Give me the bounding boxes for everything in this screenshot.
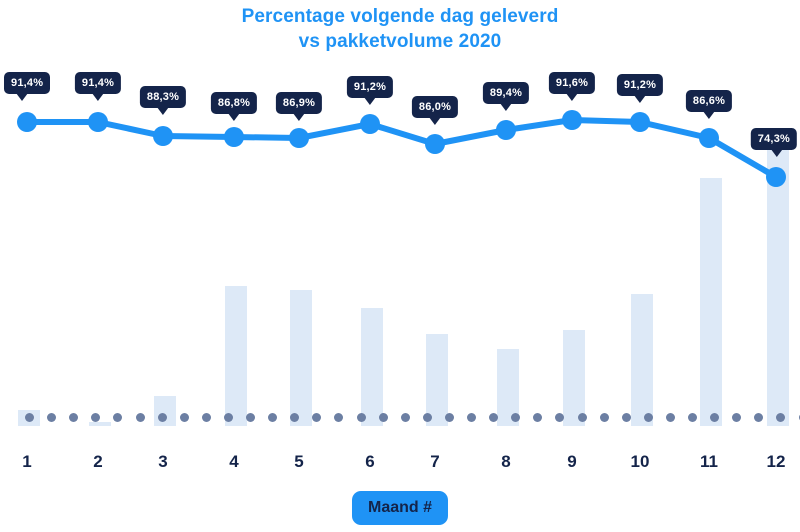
x-axis-tick-label: 2 xyxy=(93,452,102,472)
value-label-badge: 86,0% xyxy=(412,96,458,118)
value-label-badge: 86,8% xyxy=(211,92,257,114)
plot-area: 91,4%91,4%88,3%86,8%86,9%91,2%86,0%89,4%… xyxy=(0,60,800,426)
value-label-badge: 88,3% xyxy=(140,86,186,108)
x-axis-tick-label: 12 xyxy=(767,452,786,472)
value-label-badge: 91,4% xyxy=(75,72,121,94)
chart-page: Percentage volgende dag geleverd vs pakk… xyxy=(0,0,800,532)
x-axis-tick-label: 8 xyxy=(501,452,510,472)
x-axis-tick-label: 4 xyxy=(229,452,238,472)
value-label-badge: 86,6% xyxy=(686,90,732,112)
value-label-badge: 91,2% xyxy=(617,74,663,96)
page-title: Percentage volgende dag geleverd vs pakk… xyxy=(0,4,800,54)
x-axis-tick-label: 10 xyxy=(631,452,650,472)
value-label-badge: 91,4% xyxy=(4,72,50,94)
value-label-badge: 89,4% xyxy=(483,82,529,104)
page-title-line-2: vs pakketvolume 2020 xyxy=(0,29,800,54)
x-axis-tick-label: 7 xyxy=(430,452,439,472)
x-axis-tick-label: 3 xyxy=(158,452,167,472)
x-axis-title-pill[interactable]: Maand # xyxy=(352,491,448,525)
x-axis-tick-label: 5 xyxy=(294,452,303,472)
value-label-badge: 91,6% xyxy=(549,72,595,94)
value-label-group: 91,4%91,4%88,3%86,8%86,9%91,2%86,0%89,4%… xyxy=(0,60,800,426)
x-axis-tick-label: 9 xyxy=(567,452,576,472)
value-label-badge: 74,3% xyxy=(751,128,797,150)
value-label-badge: 86,9% xyxy=(276,92,322,114)
x-axis-tick-label: 6 xyxy=(365,452,374,472)
x-axis-ticks: 123456789101112 xyxy=(0,452,800,476)
value-label-badge: 91,2% xyxy=(347,76,393,98)
x-axis-tick-label: 1 xyxy=(22,452,31,472)
x-axis-tick-label: 11 xyxy=(700,452,718,472)
page-title-line-1: Percentage volgende dag geleverd xyxy=(0,4,800,29)
